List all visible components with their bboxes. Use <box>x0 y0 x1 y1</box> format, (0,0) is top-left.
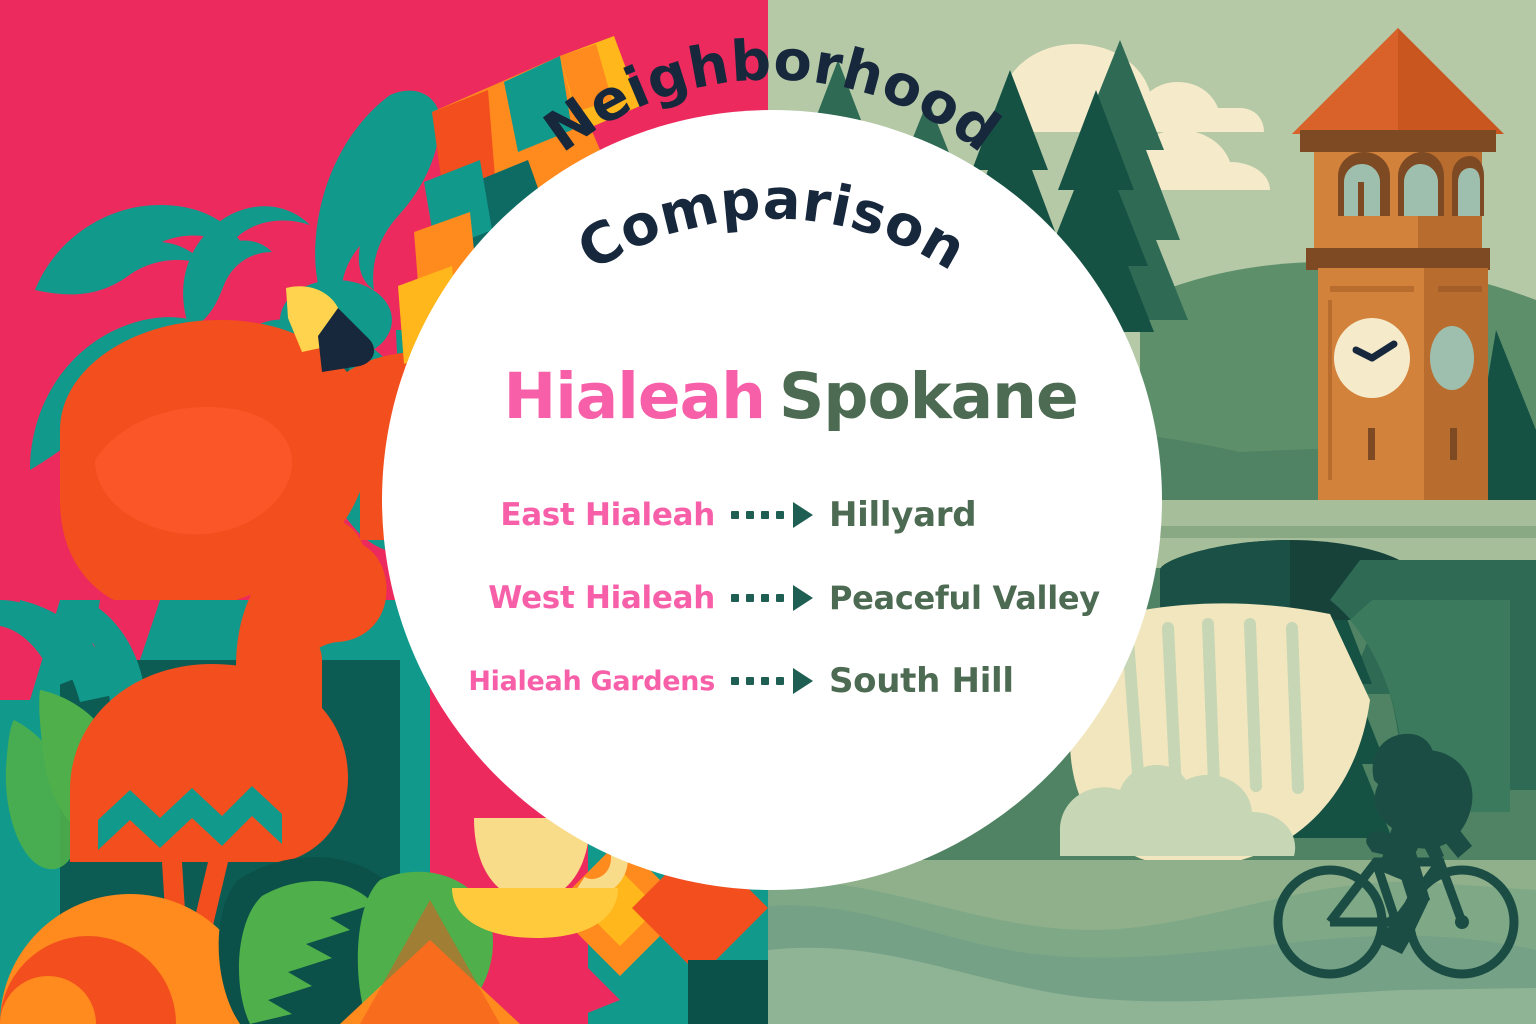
arrow-head <box>793 668 813 694</box>
comparison-card: Neighborhood Comparison Hialeah Spokane … <box>382 110 1162 890</box>
dotted-arrow-right-icon <box>731 502 813 528</box>
title-line-2: Comparison <box>567 167 977 283</box>
page-title: Neighborhood Comparison <box>422 124 1122 374</box>
pair-right-neighborhood: Hillyard <box>829 495 1119 535</box>
neighborhood-pair-row[interactable]: West Hialeah Peaceful Valley <box>382 579 1162 617</box>
dotted-arrow-right-icon <box>731 668 813 694</box>
arrow-dot <box>776 511 784 519</box>
clock-tower-icon <box>1292 28 1504 524</box>
arrow-dot <box>731 594 739 602</box>
arrow-dot <box>761 511 769 519</box>
city-a-heading: Hialeah <box>435 365 765 428</box>
neighborhood-pair-row[interactable]: East Hialeah Hillyard <box>382 495 1162 535</box>
arrow-dot <box>746 511 754 519</box>
pair-left-neighborhood: Hialeah Gardens <box>425 666 715 697</box>
arrow-dot <box>776 594 784 602</box>
city-headings: Hialeah Spokane <box>382 365 1162 428</box>
pair-right-neighborhood: Peaceful Valley <box>829 579 1119 617</box>
pair-left-neighborhood: West Hialeah <box>425 580 715 616</box>
pair-left-neighborhood: East Hialeah <box>425 497 715 533</box>
arrow-dot <box>761 594 769 602</box>
pair-right-neighborhood: South Hill <box>829 661 1119 701</box>
arrow-dot <box>776 677 784 685</box>
arrow-dot <box>746 677 754 685</box>
poster-canvas: Neighborhood Comparison Hialeah Spokane … <box>0 0 1536 1024</box>
city-b-heading: Spokane <box>779 365 1109 428</box>
arrow-dot <box>746 594 754 602</box>
dotted-arrow-right-icon <box>731 585 813 611</box>
arrow-dot <box>761 677 769 685</box>
arrow-dot <box>731 511 739 519</box>
arrow-dot <box>731 677 739 685</box>
neighborhood-pair-row[interactable]: Hialeah Gardens South Hill <box>382 661 1162 701</box>
arrow-head <box>793 502 813 528</box>
arrow-head <box>793 585 813 611</box>
neighborhood-pairs-list: East Hialeah Hillyard West Hialeah <box>382 495 1162 701</box>
